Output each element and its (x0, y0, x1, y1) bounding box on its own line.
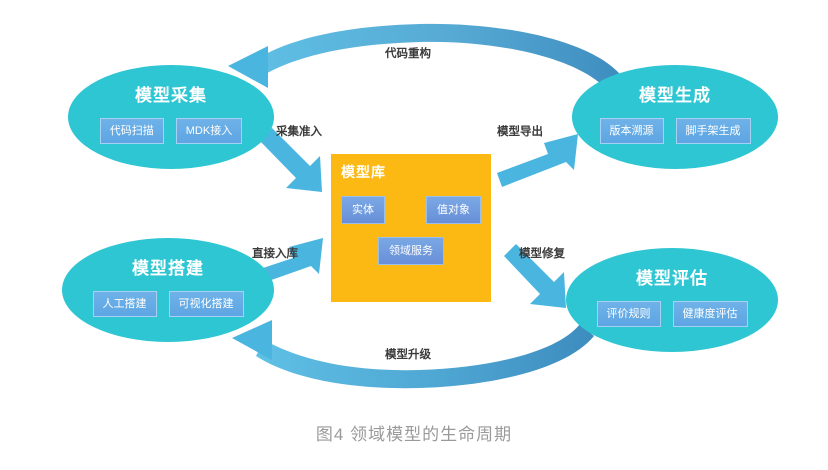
arrow-label-model-upgrade: 模型升级 (385, 346, 431, 362)
arrow-label-model-export: 模型导出 (497, 123, 543, 139)
figure-caption: 图4 领域模型的生命周期 (0, 420, 828, 445)
node-title: 模型搭建 (132, 254, 204, 279)
arrow-label-model-repair: 模型修复 (519, 245, 565, 261)
node-title: 模型生成 (639, 81, 711, 106)
chip-evaluation-rules[interactable]: 评价规则 (597, 301, 661, 327)
node-model-collect[interactable]: 模型采集 代码扫描 MDK接入 (68, 65, 274, 169)
node-chip-list: 人工搭建 可视化搭建 (93, 291, 244, 317)
node-chip-list: 评价规则 健康度评估 (597, 301, 748, 327)
node-chip-list: 代码扫描 MDK接入 (100, 118, 242, 144)
arrow-label-collect-admit: 采集准入 (276, 123, 322, 139)
node-model-generate[interactable]: 模型生成 版本溯源 脚手架生成 (572, 65, 778, 169)
model-repository-box[interactable]: 模型库 实体 值对象 领域服务 (331, 154, 491, 302)
chip-version-trace[interactable]: 版本溯源 (600, 118, 664, 144)
chip-domain-service[interactable]: 领域服务 (378, 237, 444, 265)
chip-health-assessment[interactable]: 健康度评估 (673, 301, 748, 327)
chip-value-object[interactable]: 值对象 (426, 196, 481, 224)
repository-chip-row-1: 实体 值对象 (341, 196, 481, 224)
chip-code-scan[interactable]: 代码扫描 (100, 118, 164, 144)
node-model-evaluate[interactable]: 模型评估 评价规则 健康度评估 (566, 248, 778, 352)
chip-entity[interactable]: 实体 (341, 196, 385, 224)
arrow-label-code-refactor: 代码重构 (385, 45, 431, 61)
chip-manual-build[interactable]: 人工搭建 (93, 291, 157, 317)
repository-title: 模型库 (341, 162, 481, 182)
node-chip-list: 版本溯源 脚手架生成 (600, 118, 751, 144)
arrow-model-export (497, 134, 578, 187)
node-model-build[interactable]: 模型搭建 人工搭建 可视化搭建 (62, 238, 274, 342)
chip-scaffold-generate[interactable]: 脚手架生成 (676, 118, 751, 144)
chip-mdk-access[interactable]: MDK接入 (176, 118, 242, 144)
repository-chip-row-2: 领域服务 (341, 237, 481, 265)
figure-canvas: 模型采集 代码扫描 MDK接入 模型生成 版本溯源 脚手架生成 模型搭建 人工搭… (0, 0, 828, 470)
node-title: 模型评估 (636, 264, 708, 289)
arrow-label-direct-store: 直接入库 (252, 245, 298, 261)
chip-visual-build[interactable]: 可视化搭建 (169, 291, 244, 317)
node-title: 模型采集 (135, 81, 207, 106)
